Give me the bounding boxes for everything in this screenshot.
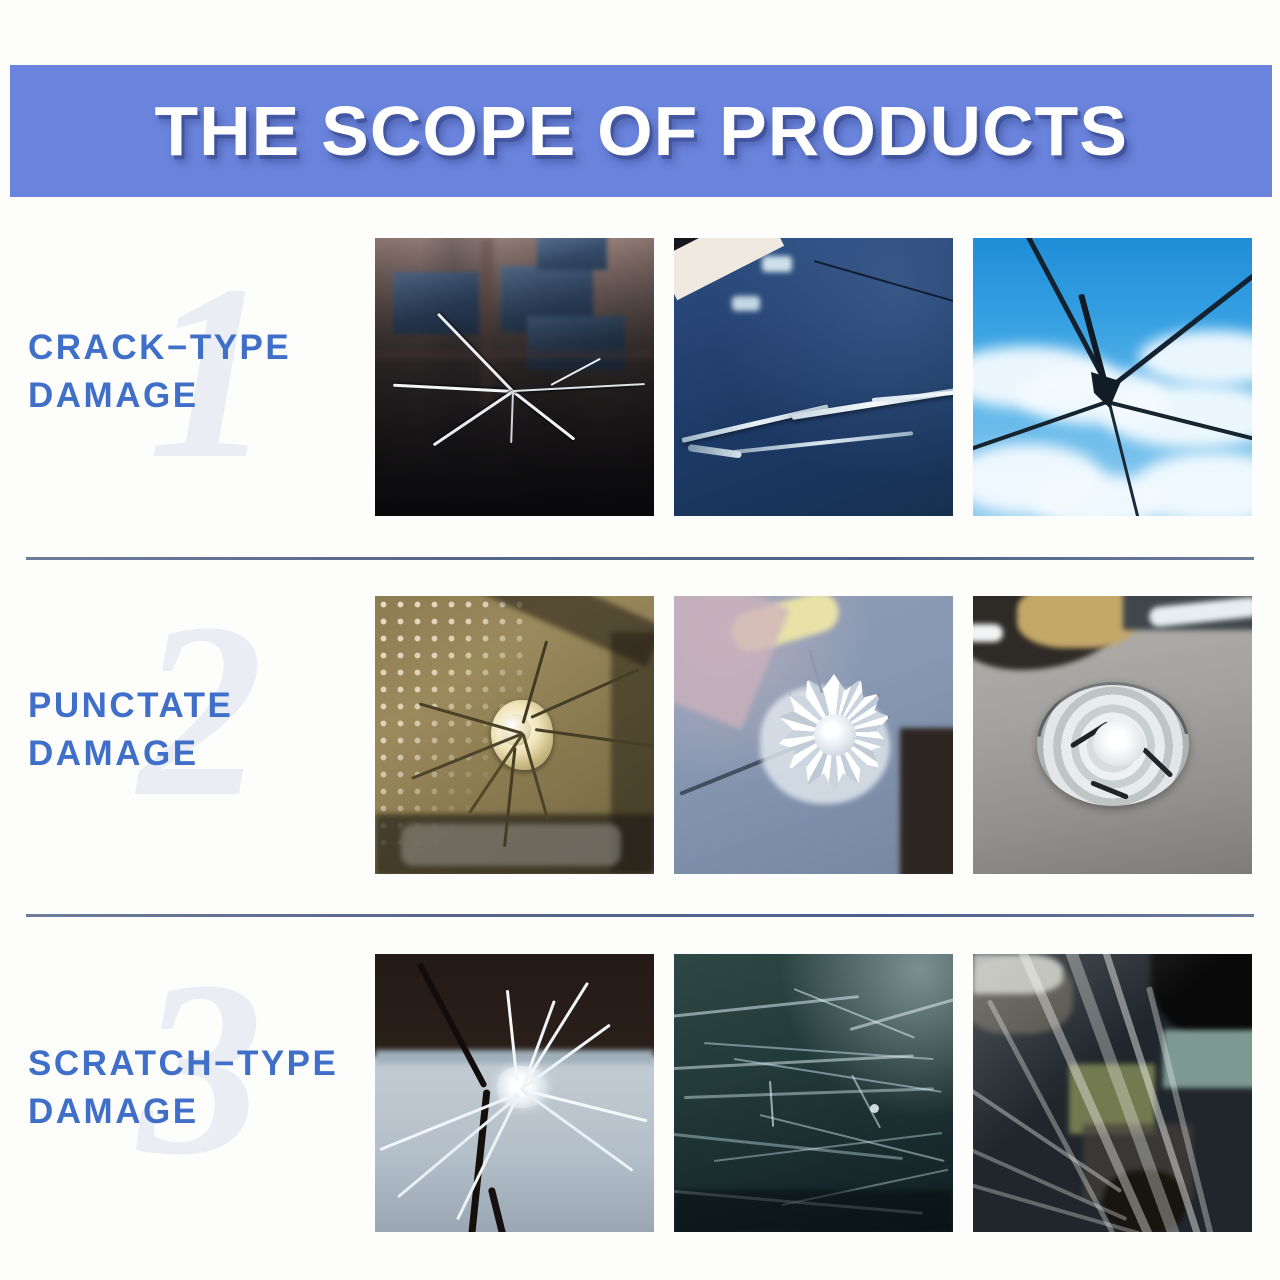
damage-row-punctate: 2 PUNCTATE DAMAGE [0, 580, 1280, 880]
row-divider [26, 914, 1254, 917]
row-label-scratch: 3 SCRATCH−TYPE DAMAGE [28, 938, 368, 1238]
thumbnail-image[interactable] [674, 238, 953, 516]
thumbnail-image[interactable] [674, 954, 953, 1232]
page-title: THE SCOPE OF PRODUCTS [154, 96, 1128, 166]
thumbnail-grid [375, 596, 1253, 874]
thumbnail-image[interactable] [973, 596, 1252, 874]
row-label-line-2: DAMAGE [28, 372, 368, 420]
row-label-crack: 1 CRACK−TYPE DAMAGE [28, 222, 368, 522]
thumbnail-image[interactable] [973, 954, 1252, 1232]
damage-row-scratch: 3 SCRATCH−TYPE DAMAGE [0, 938, 1280, 1238]
thumbnail-image[interactable] [674, 596, 953, 874]
thumbnail-image[interactable] [973, 238, 1252, 516]
row-label-line-1: PUNCTATE [28, 682, 368, 730]
thumbnail-image[interactable] [375, 954, 654, 1232]
thumbnail-grid [375, 954, 1253, 1232]
row-label-punctate: 2 PUNCTATE DAMAGE [28, 580, 368, 880]
thumbnail-image[interactable] [375, 238, 654, 516]
infographic-page: THE SCOPE OF PRODUCTS 1 CRACK−TYPE DAMAG… [0, 0, 1280, 1280]
row-label-line-1: CRACK−TYPE [28, 324, 368, 372]
damage-row-crack: 1 CRACK−TYPE DAMAGE [0, 222, 1280, 522]
thumbnail-image[interactable] [375, 596, 654, 874]
row-label-line-2: DAMAGE [28, 730, 368, 778]
row-label-line-2: DAMAGE [28, 1088, 368, 1136]
row-divider [26, 557, 1254, 560]
row-label-line-1: SCRATCH−TYPE [28, 1040, 368, 1088]
thumbnail-grid [375, 238, 1253, 516]
header-banner: THE SCOPE OF PRODUCTS [10, 65, 1272, 197]
